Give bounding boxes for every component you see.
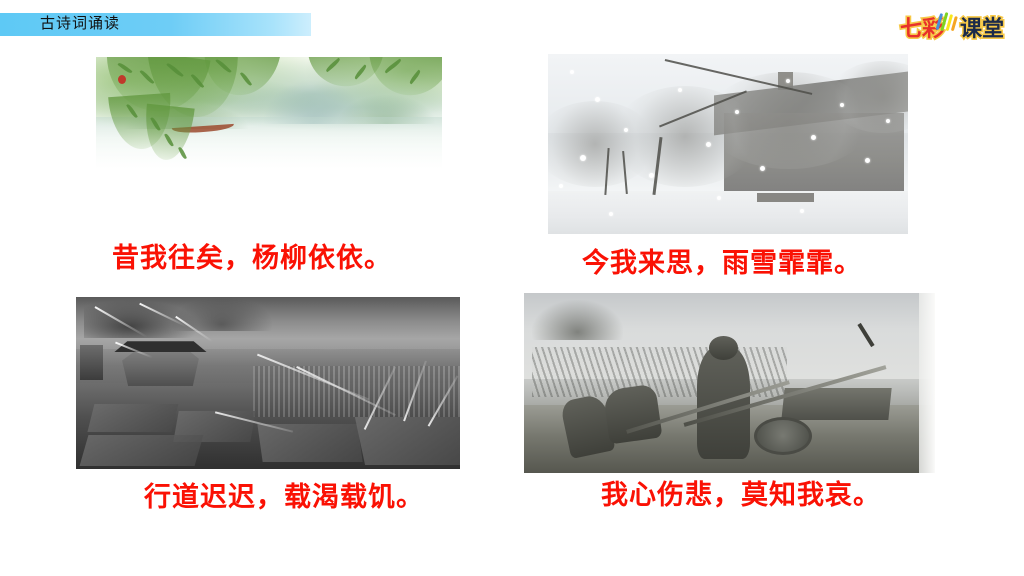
image-soldiers-chariot-diorama-photo — [524, 293, 935, 473]
snowflake — [786, 79, 790, 83]
image-ancient-battlefield-siege-illustration — [76, 297, 460, 469]
image-snowy-courtyard-photo — [548, 54, 908, 234]
snowflake — [735, 110, 739, 114]
siege-terrain-block — [79, 435, 203, 466]
snowflake — [811, 135, 816, 140]
page-title: 古诗词诵读 — [40, 12, 120, 36]
siege-smoke-plume — [172, 297, 272, 331]
snowflake — [678, 88, 682, 92]
siege-massed-army — [253, 366, 460, 418]
snowflake — [595, 97, 600, 102]
caption-siege: 行道迟迟，载渴载饥。 — [144, 475, 424, 514]
soldier-figure-crouching — [603, 383, 663, 444]
siege-watchtower — [80, 345, 103, 379]
snow-bench — [757, 193, 815, 202]
brand-logo: 七彩 七彩 课堂 课堂 — [898, 9, 1010, 45]
soldiers-photo-right-edge — [919, 293, 935, 473]
soldier-head — [709, 336, 738, 359]
siege-terrain-block — [355, 417, 460, 465]
soldiers-background-trees — [532, 300, 622, 340]
snowflake — [649, 173, 654, 178]
caption-snow: 今我来思，雨雪霏霏。 — [582, 241, 862, 280]
snow-covered-ground — [548, 191, 908, 234]
snowflake — [800, 209, 804, 213]
snowflake — [570, 70, 574, 74]
caption-willow: 昔我往矣，杨柳依依。 — [112, 236, 392, 275]
caption-soldiers: 我心伤悲，莫知我哀。 — [601, 473, 881, 512]
snowflake — [624, 128, 628, 132]
image-willow-lake-ink-painting — [96, 57, 442, 169]
snowflake — [840, 103, 844, 107]
snowflake — [559, 184, 563, 188]
siege-terrain-block — [88, 404, 179, 432]
logo-rainbow-strokes — [936, 12, 958, 31]
logo-text-ketang: 课堂 — [960, 17, 1004, 42]
siege-terrain-block — [258, 424, 363, 462]
